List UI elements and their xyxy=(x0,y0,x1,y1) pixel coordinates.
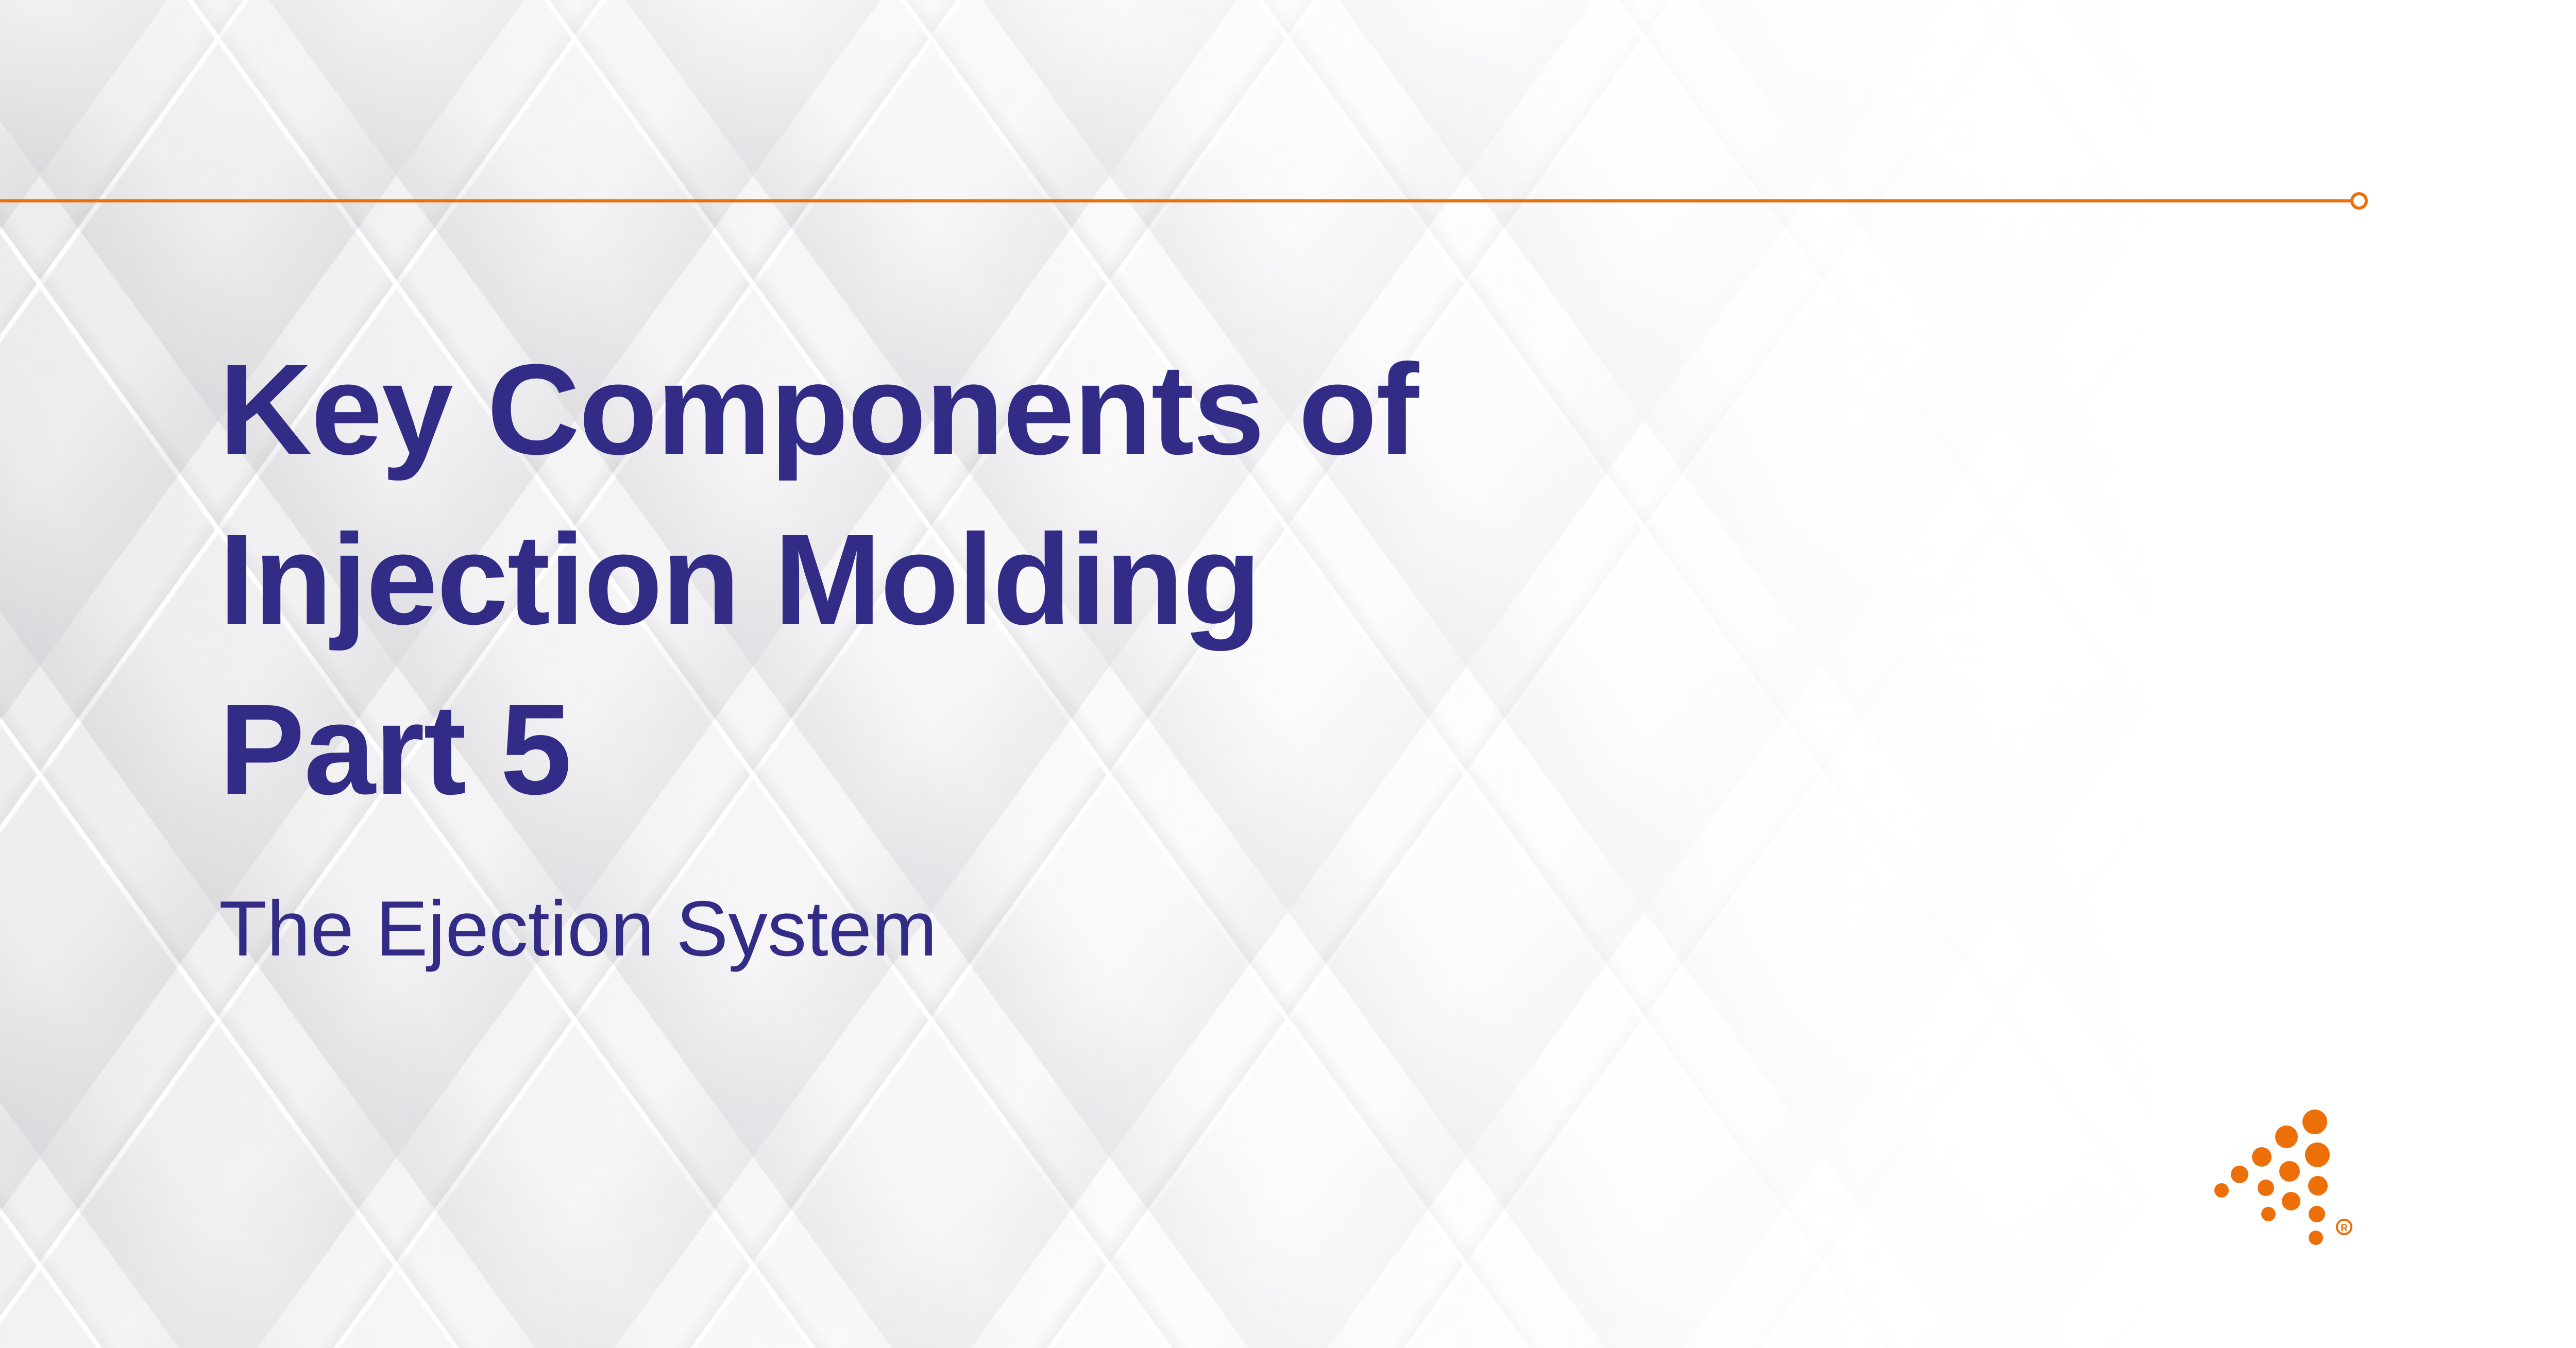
dot-arrow-logo-icon: R xyxy=(2205,1102,2370,1257)
title-block: Key Components of Injection Molding Part… xyxy=(219,325,2331,976)
registered-trademark-icon: R xyxy=(2337,1220,2351,1234)
rule-endpoint-circle-icon xyxy=(2350,192,2368,210)
svg-text:R: R xyxy=(2341,1223,2348,1234)
title-slide: Key Components of Injection Molding Part… xyxy=(0,0,2576,1348)
orange-rule-line xyxy=(0,199,2351,202)
page-subtitle: The Ejection System xyxy=(219,834,2331,976)
company-logo: R xyxy=(2205,1102,2370,1257)
header-rule xyxy=(0,0,2576,221)
page-title: Key Components of Injection Molding Part… xyxy=(219,325,2331,834)
